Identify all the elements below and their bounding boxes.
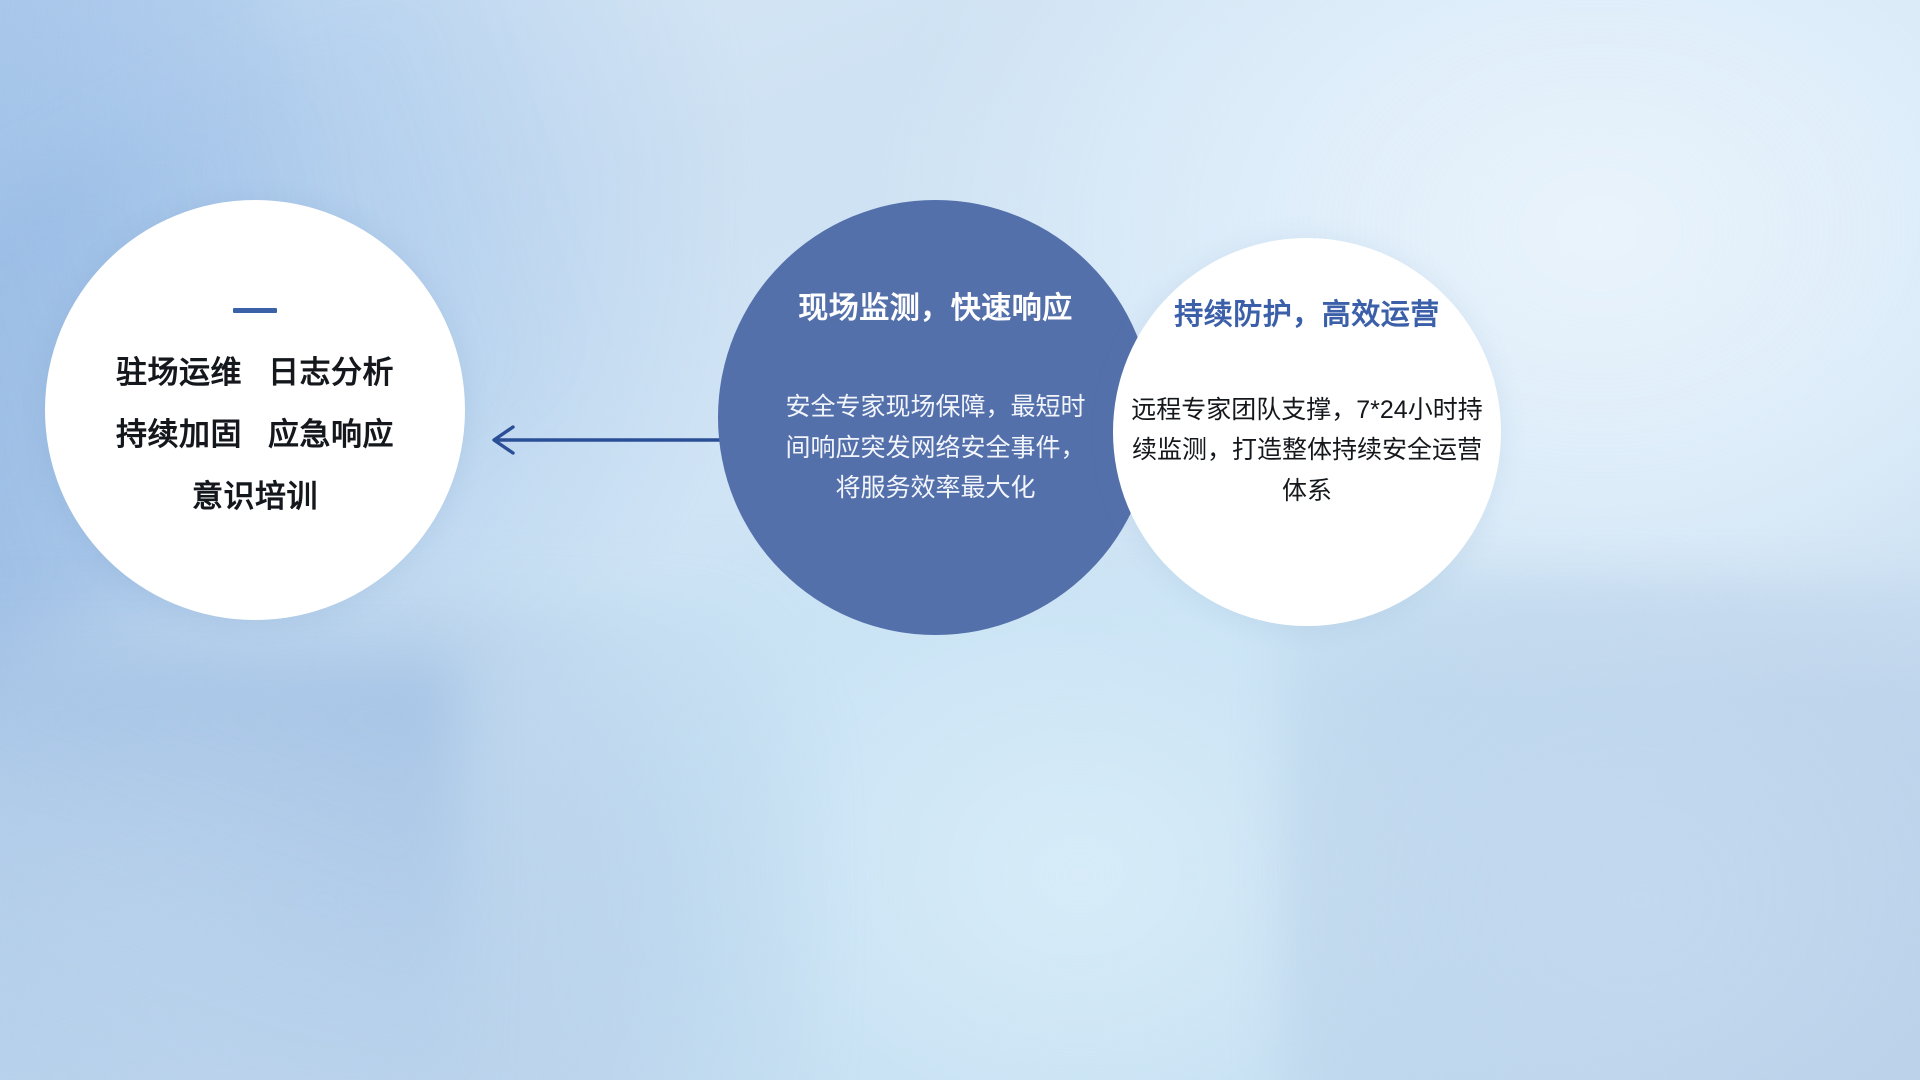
- middle-circle-body: 安全专家现场保障，最短时间响应突发网络安全事件，将服务效率最大化: [786, 387, 1086, 509]
- capability-row-3: 意识培训: [192, 481, 318, 512]
- right-continuous-protection-circle[interactable]: 持续防护，高效运营 远程专家团队支撑，7*24小时持续监测，打造整体持续安全运营…: [1113, 238, 1501, 626]
- flow-arrow-icon: [480, 400, 740, 480]
- right-circle-body: 远程专家团队支撑，7*24小时持续监测，打造整体持续安全运营体系: [1131, 390, 1483, 512]
- right-circle-content: 持续防护，高效运营 远程专家团队支撑，7*24小时持续监测，打造整体持续安全运营…: [1113, 238, 1501, 626]
- right-circle-title: 持续防护，高效运营: [1174, 300, 1440, 332]
- middle-circle-title: 现场监测，快速响应: [798, 292, 1073, 325]
- background-blob-bottom-right: [1280, 580, 1920, 1080]
- capability-label-1b: 日志分析: [268, 355, 394, 390]
- middle-circle-content: 现场监测，快速响应 安全专家现场保障，最短时间响应突发网络安全事件，将服务效率最…: [718, 200, 1153, 635]
- accent-dash-divider: [233, 308, 277, 313]
- capability-row-2: 持续加固应急响应: [116, 419, 394, 450]
- capability-label-2a: 持续加固: [116, 417, 242, 452]
- capability-label-2b: 应急响应: [268, 417, 394, 452]
- middle-onsite-monitoring-circle[interactable]: 现场监测，快速响应 安全专家现场保障，最短时间响应突发网络安全事件，将服务效率最…: [718, 200, 1153, 635]
- left-circle-content: 驻场运维日志分析 持续加固应急响应 意识培训: [45, 200, 465, 620]
- capability-label-3a: 意识培训: [192, 479, 318, 514]
- left-capability-circle[interactable]: 驻场运维日志分析 持续加固应急响应 意识培训: [45, 200, 465, 620]
- capability-row-1: 驻场运维日志分析: [116, 357, 394, 388]
- background-soft-left-bottom: [0, 660, 460, 1080]
- capability-label-1a: 驻场运维: [116, 355, 242, 390]
